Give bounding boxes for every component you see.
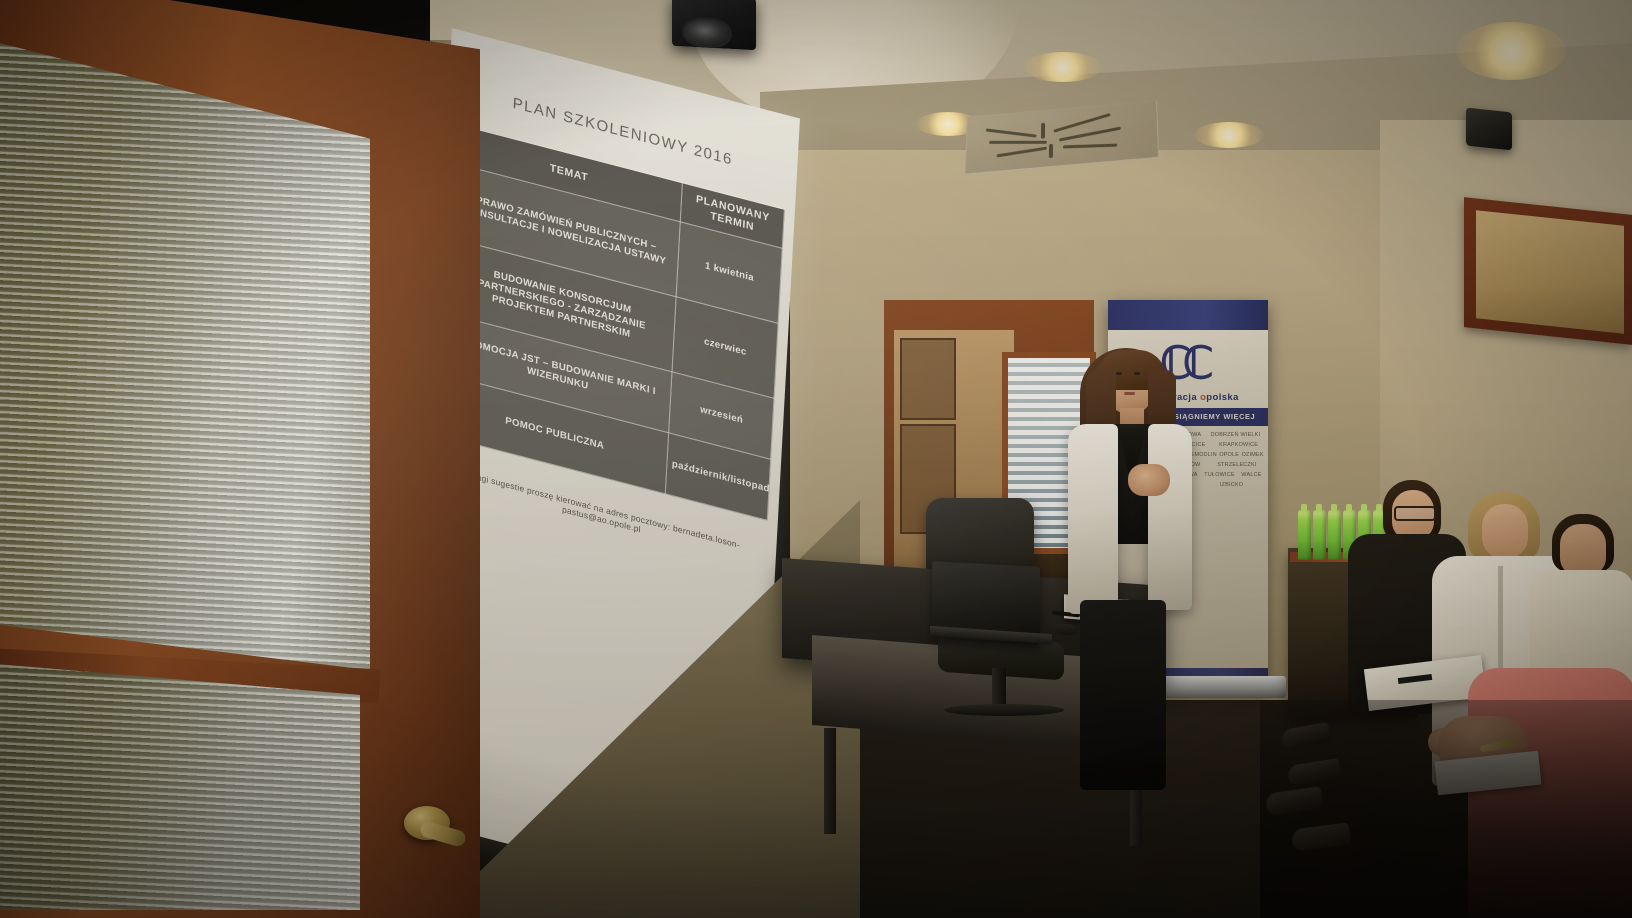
- banner-city-name: OPOLE: [1219, 452, 1239, 458]
- desk-leg: [824, 728, 836, 834]
- back-door-panel: [900, 338, 956, 420]
- banner-city-name: KRAPKOWICE: [1219, 442, 1258, 448]
- conference-room-photo: PLAN SZKOLENIOWY 2016 TEMAT PLANOWANY TE…: [0, 0, 1632, 918]
- presenter-mouth: [1124, 392, 1135, 395]
- foreground-door[interactable]: ℂ aglomeracja: [0, 0, 480, 918]
- presenter-eye: [1116, 372, 1122, 375]
- banner-city-name: TUŁOWICE: [1204, 472, 1234, 478]
- ceiling-light-icon: [1456, 22, 1566, 80]
- ceiling-light-icon: [1194, 122, 1264, 148]
- presenter-blazer-right: [1148, 424, 1192, 610]
- training-plan-table: TEMAT PLANOWANY TERMIN PRAWO ZAMÓWIEŃ PU…: [440, 124, 785, 522]
- water-bottle-icon: [1313, 510, 1326, 560]
- office-chair-base: [944, 704, 1064, 716]
- ceiling-light-icon: [1024, 52, 1102, 82]
- framed-picture-canvas: [1476, 210, 1624, 334]
- audience-face: [1560, 524, 1606, 576]
- glasses-icon: [1394, 506, 1436, 521]
- presenter-blazer-left: [1068, 424, 1118, 614]
- door-glass-panel-upper: [0, 30, 370, 670]
- banner-city-name: OZIMEK: [1242, 452, 1264, 458]
- presenter-eye: [1134, 372, 1140, 375]
- banner-brand-suffix: polska: [1206, 392, 1239, 403]
- banner-city-name: WALCE: [1241, 472, 1261, 478]
- banner-top-bar: [1108, 300, 1268, 330]
- wall-speaker-icon: [1466, 108, 1512, 151]
- audience-face: [1482, 504, 1528, 558]
- banner-city-name: DOBRZEŃ WIELKI: [1211, 432, 1261, 438]
- banner-city-name: STRZELECZKI: [1217, 462, 1256, 468]
- banner-city-name: IZBICKO: [1220, 482, 1243, 488]
- water-bottle-icon: [1328, 510, 1341, 560]
- door-glass-panel-lower: [0, 660, 360, 910]
- presenter-trousers: [1080, 600, 1166, 790]
- presenter-hands: [1128, 464, 1170, 496]
- water-bottle-icon: [1298, 510, 1311, 560]
